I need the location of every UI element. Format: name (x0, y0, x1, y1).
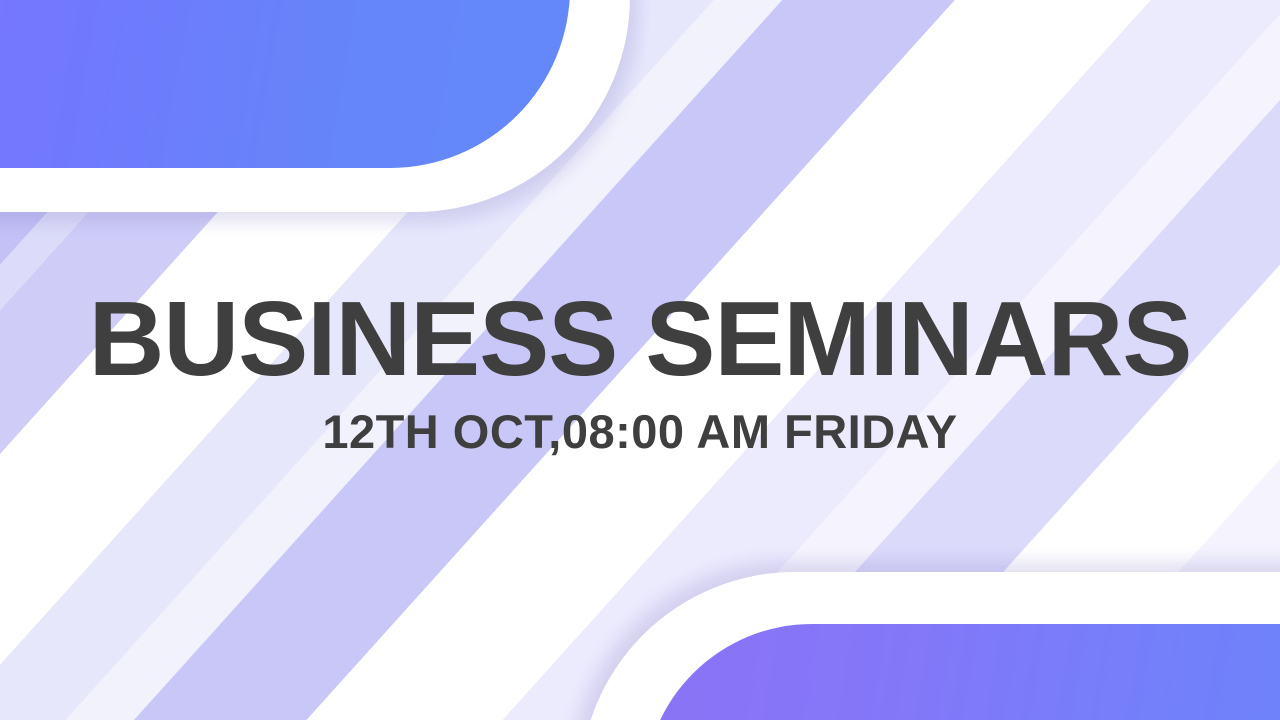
page-title: BUSINESS SEMINARS (6, 286, 1273, 392)
event-poster: BUSINESS SEMINARS 12TH OCT,08:00 AM FRID… (0, 0, 1280, 720)
event-datetime-subtitle: 12TH OCT,08:00 AM FRIDAY (0, 408, 1280, 455)
poster-text-block: BUSINESS SEMINARS 12TH OCT,08:00 AM FRID… (0, 286, 1280, 455)
